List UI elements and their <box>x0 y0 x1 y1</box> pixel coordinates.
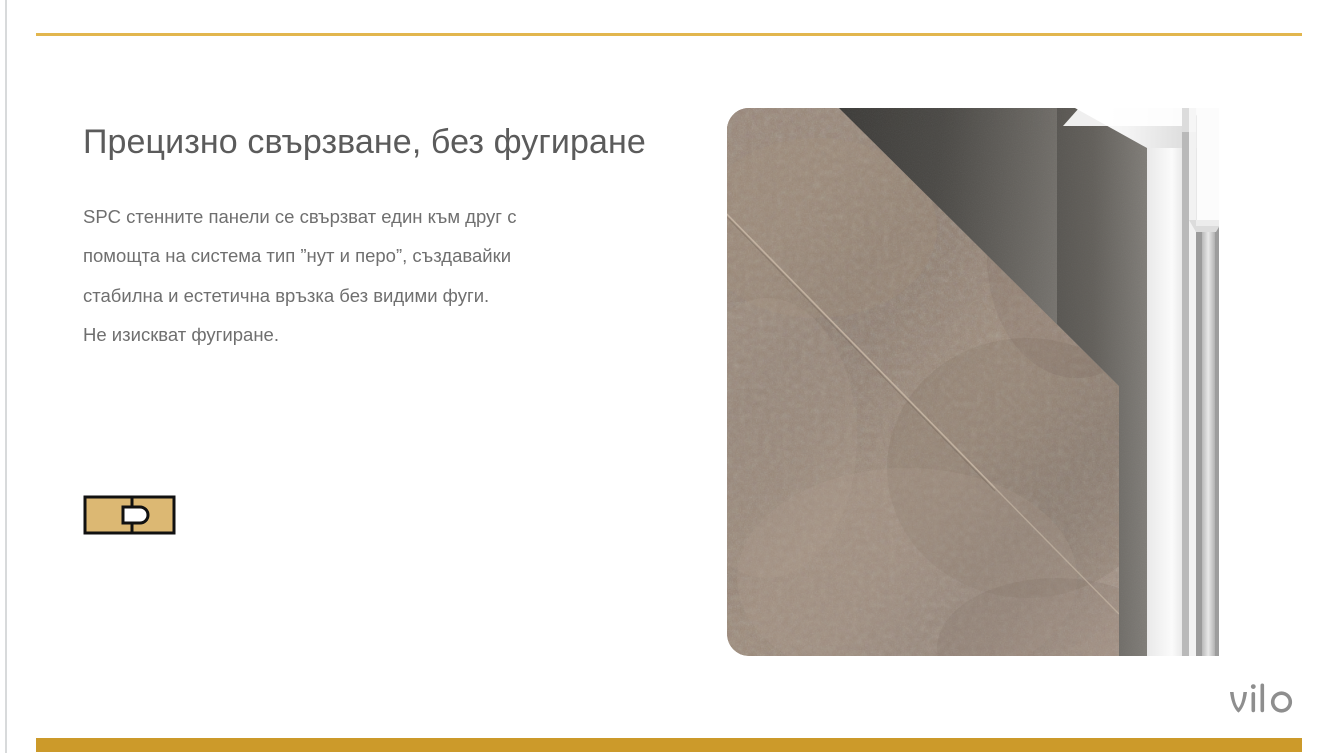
body-line: стабилна и естетична връзка без видими ф… <box>83 276 683 316</box>
text-column: Прецизно свързване, без фугиране SPC сте… <box>83 122 683 355</box>
spc-wall-panel-edge-render <box>727 108 1233 656</box>
vilo-logo-wordmark <box>1230 684 1292 713</box>
tongue-and-groove-joint-icon <box>82 492 177 538</box>
body-line: Не изискват фугиране. <box>83 315 683 355</box>
body-line: SPC стенните панели се свързват един към… <box>83 197 683 237</box>
page-title: Прецизно свързване, без фугиране <box>83 122 683 163</box>
body-paragraph: SPC стенните панели се свързват един към… <box>83 163 683 355</box>
joint-left-piece <box>85 497 132 533</box>
top-gold-rule <box>36 33 1302 36</box>
bottom-gold-bar <box>36 738 1302 752</box>
page-edge-divider <box>5 0 7 753</box>
body-line: помощта на система тип ”нут и перо”, съз… <box>83 236 683 276</box>
joint-right-piece <box>132 497 174 533</box>
presentation-slide: Прецизно свързване, без фугиране SPC сте… <box>0 0 1339 753</box>
vilo-logo: vilo <box>1228 683 1308 717</box>
panel-groove-channel <box>1196 226 1202 656</box>
panel-tongue <box>1202 226 1216 656</box>
